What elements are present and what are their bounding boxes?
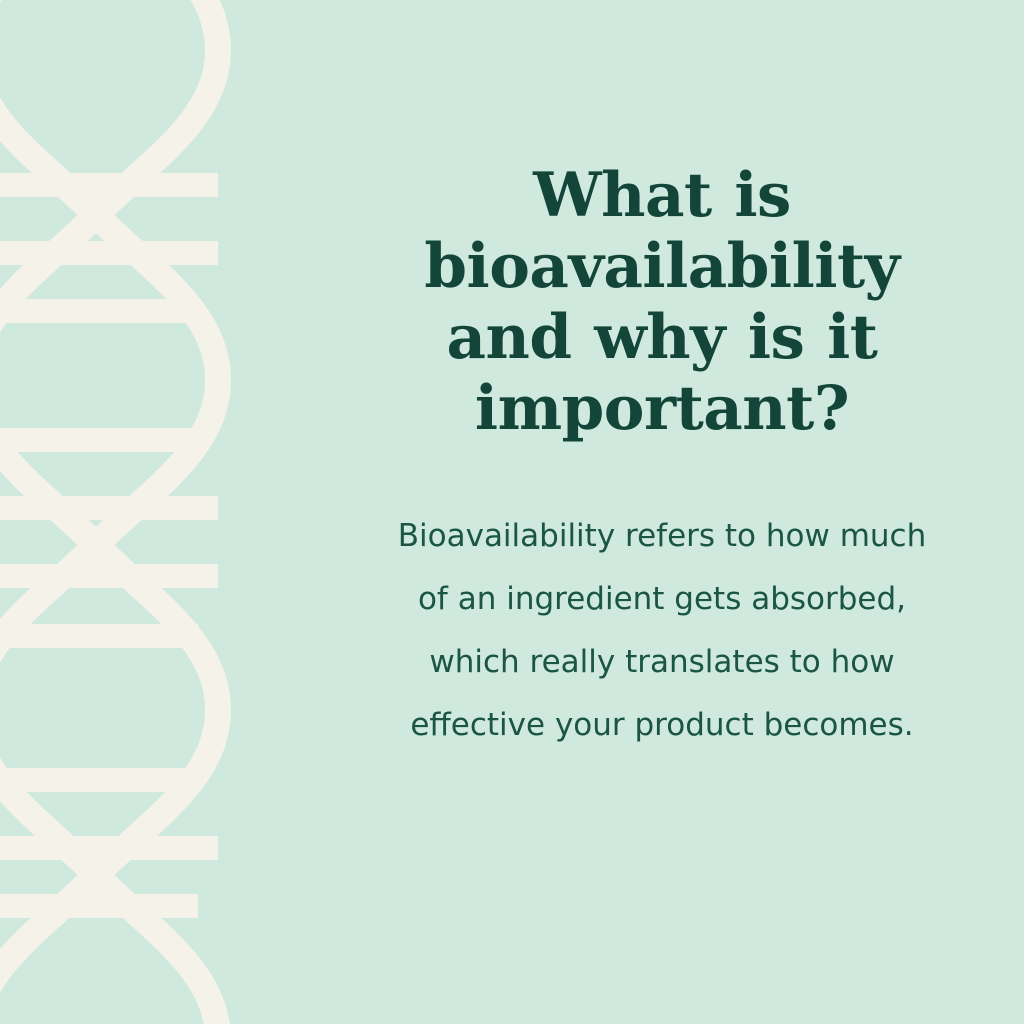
dna-strand-b <box>0 0 218 1024</box>
page-title: What is bioavailability and why is it im… <box>386 160 938 444</box>
dna-strand-a <box>0 0 218 1024</box>
text-column: What is bioavailability and why is it im… <box>386 0 938 1024</box>
body-paragraph: Bioavailability refers to how much of an… <box>386 505 938 757</box>
dna-double-helix-icon <box>0 0 300 1024</box>
poster-canvas: What is bioavailability and why is it im… <box>0 0 1024 1024</box>
dna-rungs <box>0 0 218 906</box>
